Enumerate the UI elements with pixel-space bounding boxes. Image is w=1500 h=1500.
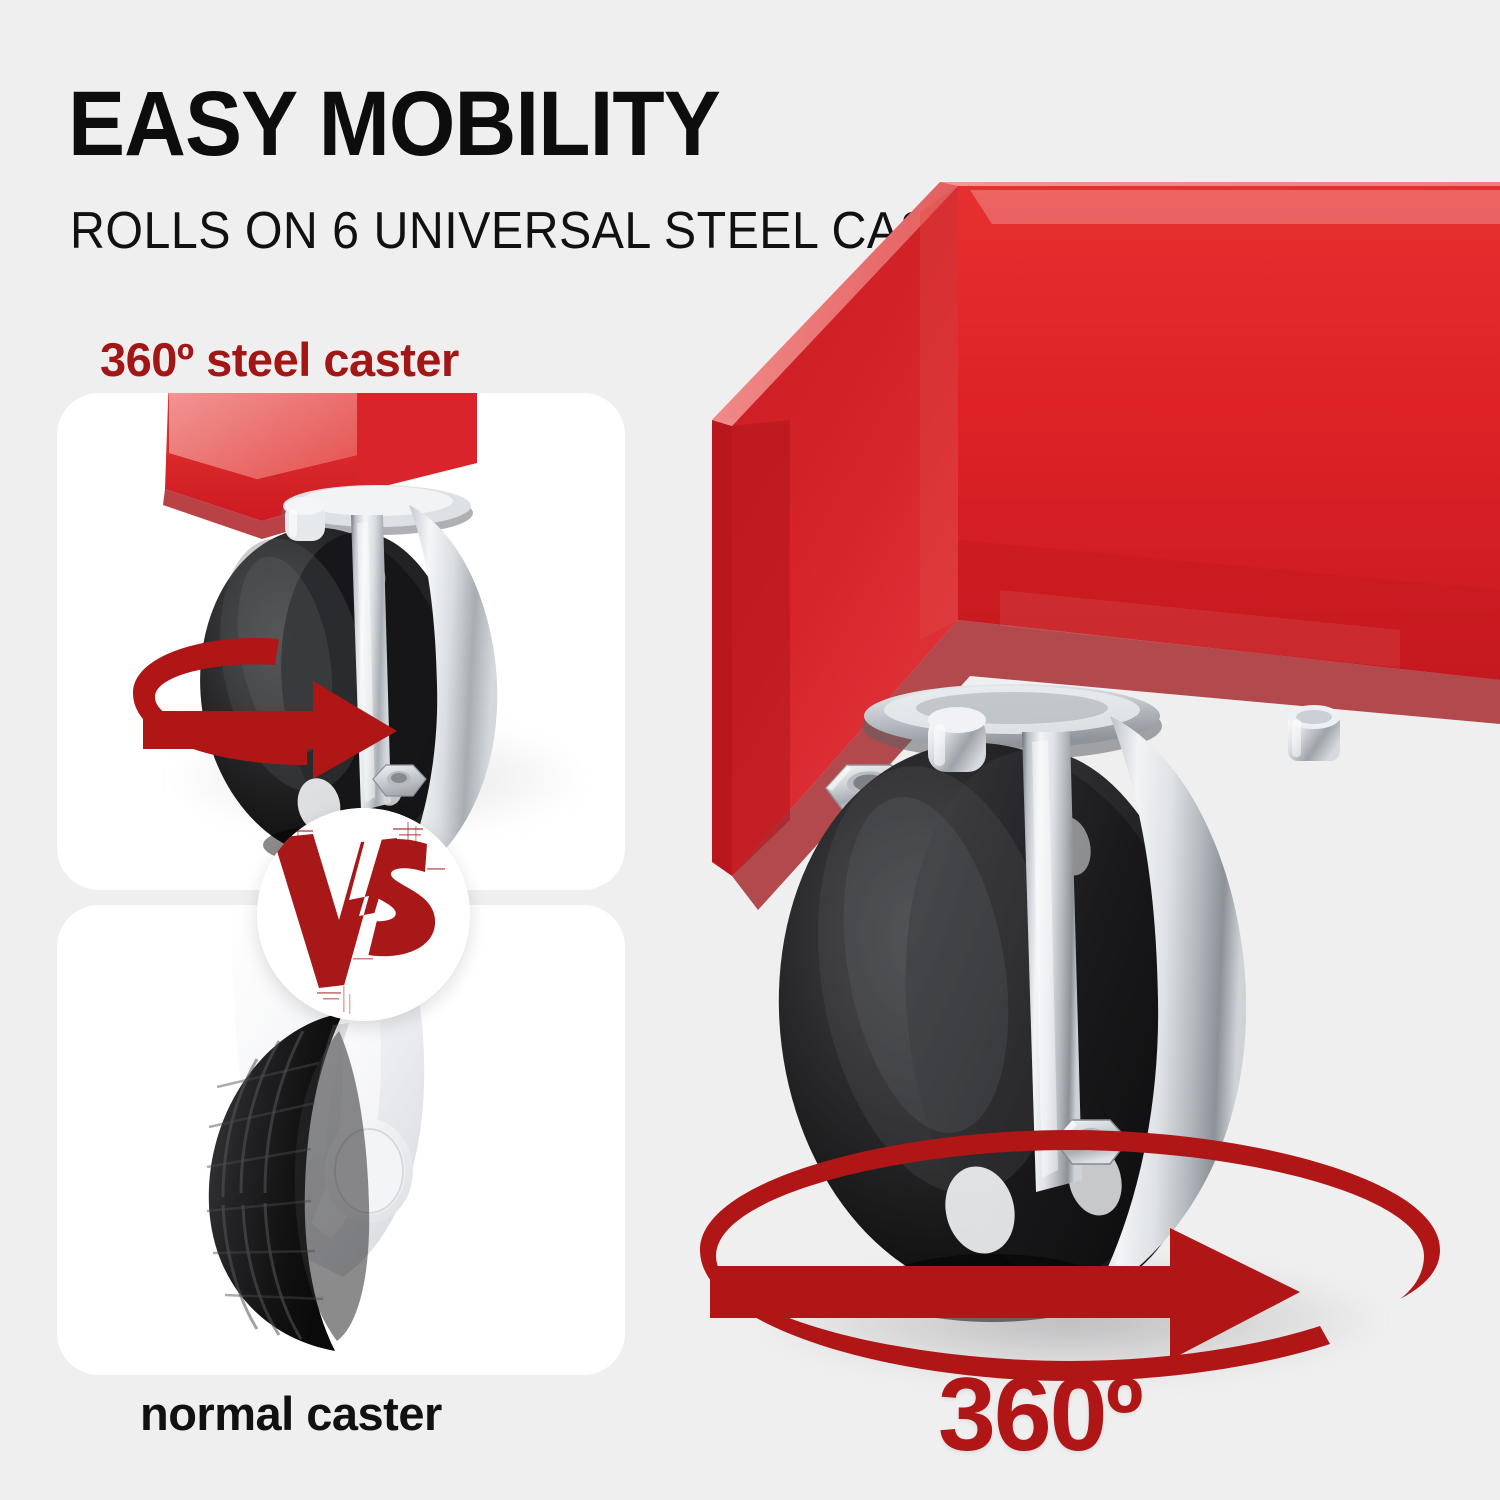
- steel-caster-label: 360º steel caster: [100, 332, 459, 387]
- rivet-icon: [1288, 705, 1340, 761]
- product-feature-image: EASY MOBILITY ROLLS ON 6 UNIVERSAL STEEL…: [0, 0, 1500, 1500]
- normal-caster-tire: [207, 1013, 369, 1351]
- rotation-degree-label: 360º: [938, 1356, 1142, 1475]
- main-product-illustration: [640, 120, 1500, 1440]
- vs-badge-art: [257, 808, 470, 1021]
- fork-post: [928, 707, 986, 772]
- normal-caster-label: normal caster: [140, 1386, 442, 1441]
- page-title: EASY MOBILITY: [68, 78, 720, 170]
- fork-post: [285, 497, 325, 541]
- vs-badge: [257, 808, 470, 1021]
